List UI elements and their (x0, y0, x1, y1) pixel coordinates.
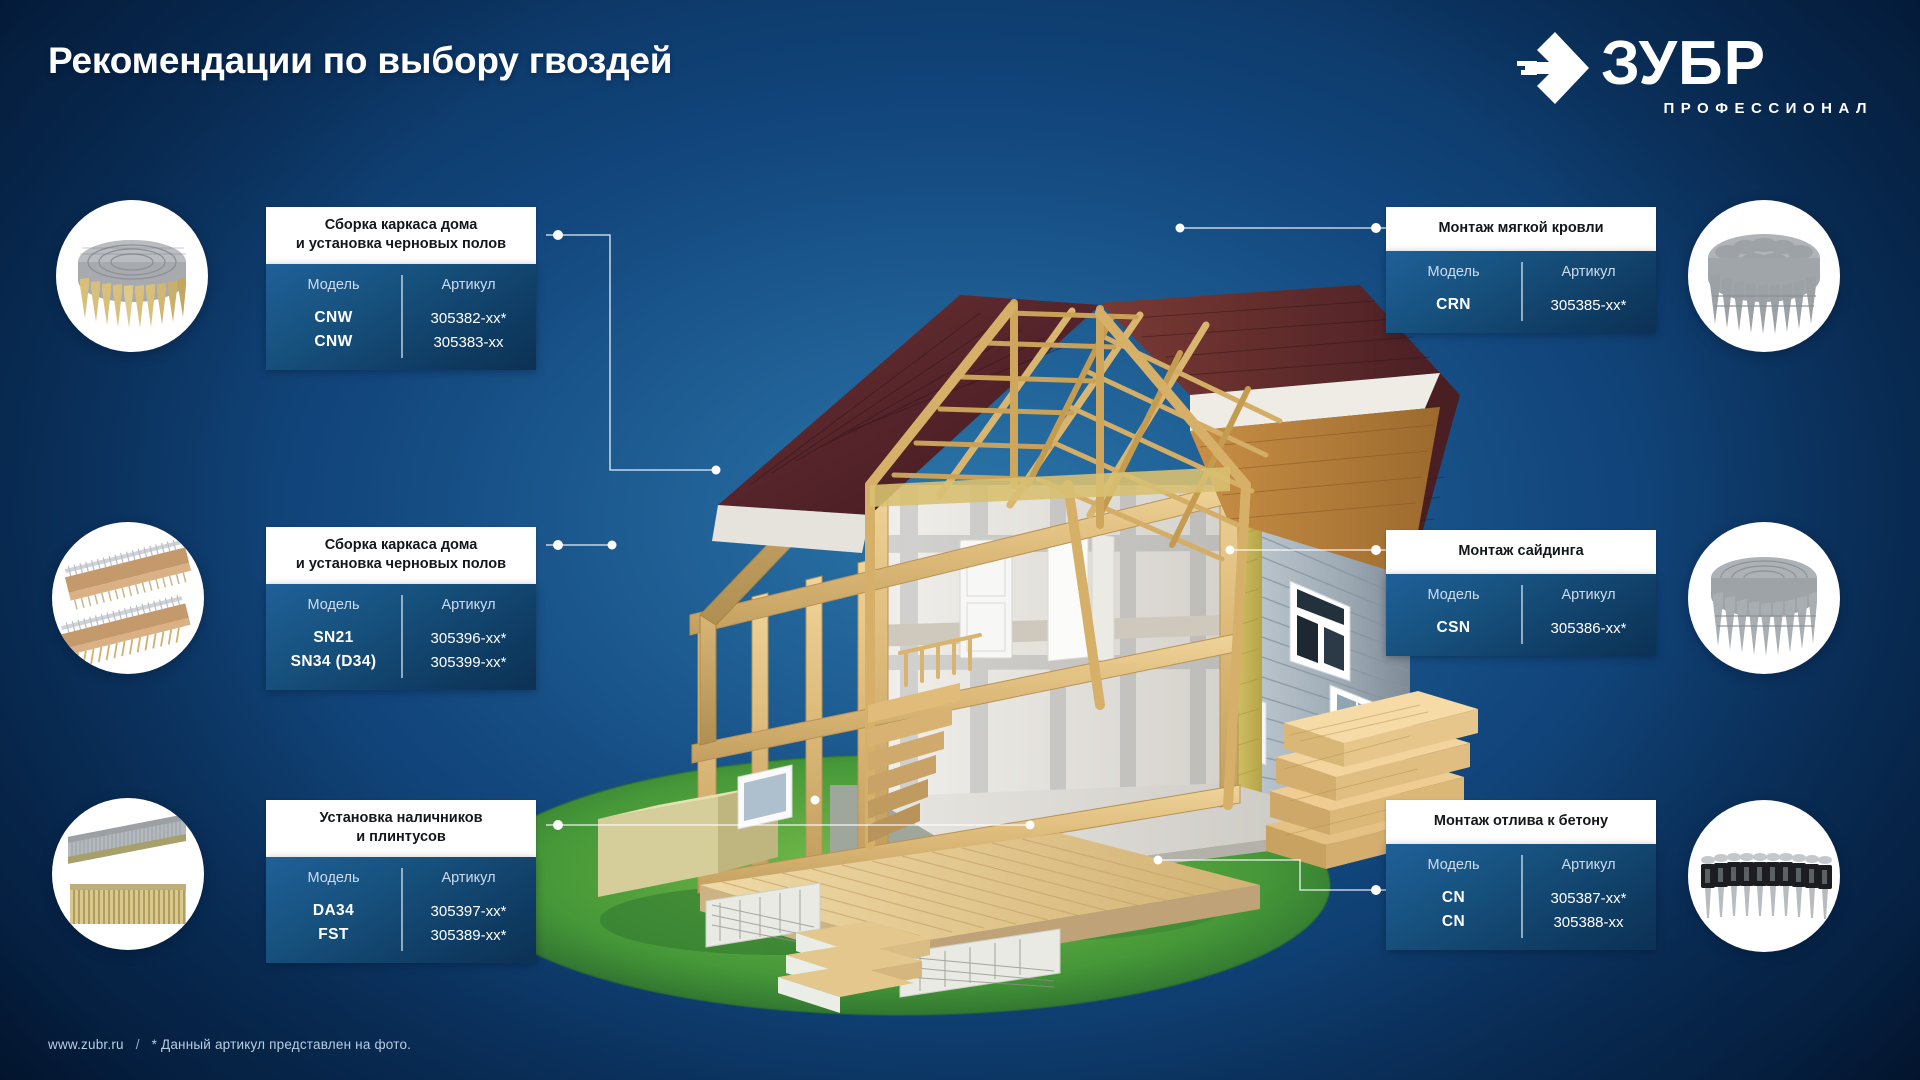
card-title: Монтаж сайдинга (1386, 530, 1656, 574)
model-value: CNW (266, 330, 401, 354)
column-divider (401, 595, 403, 678)
col-model: Модель (266, 277, 401, 306)
article-value: 305389-xx* (401, 923, 536, 947)
card-body: Модель Артикул CN 305387-xx* CN 305388-x… (1386, 844, 1656, 950)
col-model: Модель (1386, 857, 1521, 886)
card-frame-assembly-sn[interactable]: Сборка каркаса дома и установка черновых… (266, 527, 536, 690)
card-trim-and-baseboard[interactable]: Установка наличников и плинтусов Модель … (266, 800, 536, 963)
model-value: CNW (266, 306, 401, 330)
footer-note: * Данный артикул представлен на фото. (152, 1037, 412, 1052)
col-article: Артикул (1521, 264, 1656, 293)
column-divider (1521, 262, 1523, 321)
column-divider (1521, 855, 1523, 938)
product-image-roofing-coil-nails (1688, 200, 1840, 352)
card-soft-roof-mounting[interactable]: Монтаж мягкой кровли Модель Артикул CRN … (1386, 207, 1656, 333)
card-title: Сборка каркаса дома и установка черновых… (266, 527, 536, 584)
model-value: SN21 (266, 626, 401, 650)
footer-separator: / (136, 1037, 140, 1052)
card-body: Модель Артикул DA34 305397-xx* FST 30538… (266, 857, 536, 963)
col-article: Артикул (401, 870, 536, 899)
product-image-strip-nails-paper (52, 522, 204, 674)
product-image-siding-coil-nails (1688, 522, 1840, 674)
col-model: Модель (1386, 264, 1521, 293)
product-image-coil-nails-bright (56, 200, 208, 352)
model-value: FST (266, 923, 401, 947)
article-value: 305385-xx* (1521, 293, 1656, 317)
card-title: Установка наличников и плинтусов (266, 800, 536, 857)
article-value: 305396-xx* (401, 626, 536, 650)
article-value: 305387-xx* (1521, 886, 1656, 910)
card-title: Сборка каркаса дома и установка черновых… (266, 207, 536, 264)
article-value: 305399-xx* (401, 650, 536, 674)
card-title: Монтаж отлива к бетону (1386, 800, 1656, 844)
card-siding-mounting[interactable]: Монтаж сайдинга Модель Артикул CSN 30538… (1386, 530, 1656, 656)
card-concrete-drip-mounting[interactable]: Монтаж отлива к бетону Модель Артикул CN… (1386, 800, 1656, 950)
card-body: Модель Артикул CSN 305386-xx* (1386, 574, 1656, 656)
zubr-logo: ЗУБР ПРОФЕССИОНАЛ (1515, 26, 1875, 121)
col-model: Модель (266, 597, 401, 626)
column-divider (1521, 585, 1523, 644)
card-title: Монтаж мягкой кровли (1386, 207, 1656, 251)
footer: www.zubr.ru / * Данный артикул представл… (48, 1037, 411, 1052)
col-article: Артикул (401, 597, 536, 626)
card-body: Модель Артикул SN21 305396-xx* SN34 (D34… (266, 584, 536, 690)
model-value: CN (1386, 910, 1521, 934)
model-value: CRN (1386, 293, 1521, 317)
model-value: CSN (1386, 616, 1521, 640)
article-value: 305397-xx* (401, 899, 536, 923)
article-value: 305383-xx (401, 330, 536, 354)
article-value: 305386-xx* (1521, 616, 1656, 640)
zubr-arrow-mark-icon (1515, 30, 1591, 106)
model-value: SN34 (D34) (266, 650, 401, 674)
card-frame-assembly-cnw[interactable]: Сборка каркаса дома и установка черновых… (266, 207, 536, 370)
column-divider (401, 868, 403, 951)
col-model: Модель (266, 870, 401, 899)
article-value: 305382-xx* (401, 306, 536, 330)
page-title: Рекомендации по выбору гвоздей (48, 40, 672, 82)
col-article: Артикул (401, 277, 536, 306)
card-body: Модель Артикул CRN 305385-xx* (1386, 251, 1656, 333)
col-model: Модель (1386, 587, 1521, 616)
product-image-concrete-pin-nails (1688, 800, 1840, 952)
card-body: Модель Артикул CNW 305382-xx* CNW 305383… (266, 264, 536, 370)
model-value: CN (1386, 886, 1521, 910)
article-value: 305388-xx (1521, 910, 1656, 934)
logo-wordmark: ЗУБР (1601, 28, 1766, 99)
model-value: DA34 (266, 899, 401, 923)
col-article: Артикул (1521, 857, 1656, 886)
product-image-finish-brad-nails (52, 798, 204, 950)
column-divider (401, 275, 403, 358)
footer-site-link[interactable]: www.zubr.ru (48, 1037, 124, 1052)
logo-subtitle: ПРОФЕССИОНАЛ (1663, 100, 1873, 117)
col-article: Артикул (1521, 587, 1656, 616)
